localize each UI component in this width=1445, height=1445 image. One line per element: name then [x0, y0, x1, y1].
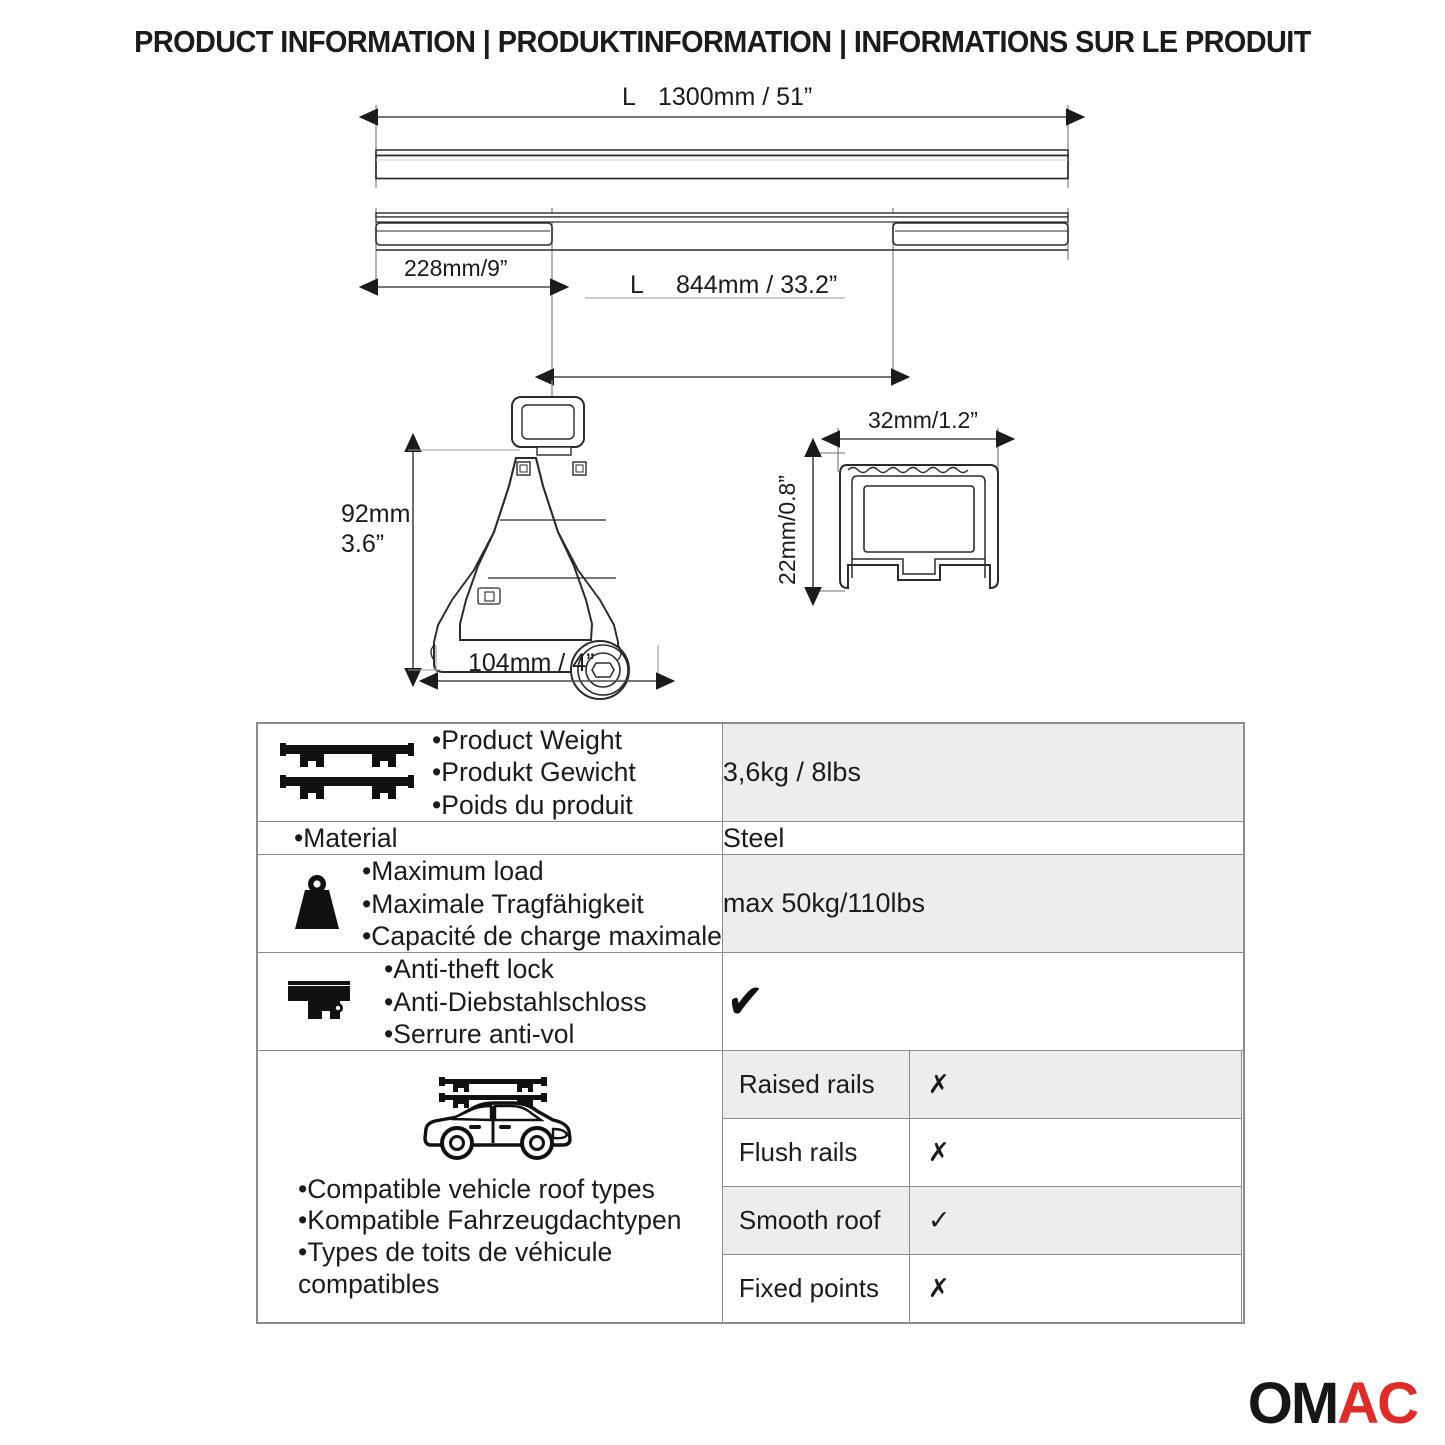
weight-label-en: •Product Weight: [432, 724, 636, 756]
dim-profile-height: 22mm/0.8”: [774, 475, 800, 585]
dim-foot-width: 104mm / 4”: [468, 649, 594, 677]
roof-type-row: Fixed points ✗: [722, 1255, 1241, 1323]
table-row: •Material Steel: [257, 821, 1244, 854]
dim-bar-length: 1300mm / 51”: [658, 83, 812, 111]
dim-foot-offset: 228mm/9”: [404, 255, 508, 281]
lock-labels: •Anti-theft lock •Anti-Diebstahlschloss …: [384, 953, 647, 1050]
roof-type-support: ✗: [909, 1255, 1241, 1323]
logo-text-ac: AC: [1337, 1375, 1417, 1433]
lock-value-cell: ✔: [722, 953, 1244, 1051]
dim-profile-width: 32mm/1.2”: [868, 407, 978, 433]
compatibility-labels: •Compatible vehicle roof types •Kompatib…: [258, 1174, 681, 1301]
roof-types-host: Raised rails ✗ Flush rails ✗ Smooth roof: [722, 1051, 1244, 1324]
weight-label-cell: •Product Weight •Produkt Gewicht •Poids …: [257, 723, 722, 821]
material-value: Steel: [722, 821, 1244, 854]
dim-foot-height-2: 3.6”: [341, 530, 384, 558]
compat-label-en: •Compatible vehicle roof types: [298, 1174, 681, 1206]
roof-type-name: Flush rails: [722, 1119, 909, 1187]
dim-span-length: 844mm / 33.2”: [676, 271, 837, 299]
cross-icon: ✗: [928, 1069, 950, 1099]
check-icon: ✓: [928, 1205, 951, 1235]
weight-labels: •Product Weight •Produkt Gewicht •Poids …: [432, 724, 636, 821]
material-label-cell: •Material: [257, 821, 722, 854]
lock-label-en: •Anti-theft lock: [384, 953, 647, 985]
technical-drawing: L 1300mm / 51” 228mm/9” L 844mm / 33.2” …: [0, 80, 1445, 710]
weight-label-de: •Produkt Gewicht: [432, 756, 636, 788]
roof-type-support: ✗: [909, 1051, 1241, 1119]
roof-rack-bars-icon: [280, 741, 414, 803]
dim-bar-length-prefix: L: [622, 83, 636, 111]
maxload-value: max 50kg/110lbs: [722, 855, 1244, 953]
roof-type-row: Raised rails ✗: [722, 1051, 1241, 1119]
maxload-label-fr: •Capacité de charge maximale: [362, 920, 722, 952]
lock-checkmark: ✔: [725, 974, 765, 1030]
logo-text-om: OM: [1248, 1375, 1337, 1433]
compat-label-de: •Kompatible Fahrzeugdachtypen: [298, 1205, 681, 1237]
roof-type-row: Flush rails ✗: [722, 1119, 1241, 1187]
roof-type-support: ✓: [909, 1187, 1241, 1255]
roof-types-table: Raised rails ✗ Flush rails ✗ Smooth roof: [722, 1050, 1242, 1323]
weight-label-fr: •Poids du produit: [432, 789, 636, 821]
weight-value: 3,6kg / 8lbs: [722, 723, 1244, 821]
cross-icon: ✗: [928, 1273, 950, 1303]
roof-type-name: Fixed points: [722, 1255, 909, 1323]
table-row: •Compatible vehicle roof types •Kompatib…: [257, 1051, 1244, 1324]
material-label-en: •Material: [294, 822, 398, 854]
roof-type-name: Smooth roof: [722, 1187, 909, 1255]
table-row: •Maximum load •Maximale Tragfähigkeit •C…: [257, 855, 1244, 953]
maxload-labels: •Maximum load •Maximale Tragfähigkeit •C…: [362, 855, 722, 952]
lock-label-cell: •Anti-theft lock •Anti-Diebstahlschloss …: [257, 953, 722, 1051]
dim-foot-height-1: 92mm: [341, 500, 410, 528]
maxload-label-en: •Maximum load: [362, 855, 722, 887]
weight-icon: [286, 873, 348, 935]
compatibility-label-cell: •Compatible vehicle roof types •Kompatib…: [257, 1051, 722, 1324]
compat-label-fr: •Types de toits de véhicule: [298, 1237, 681, 1269]
dim-span-prefix: L: [630, 271, 644, 299]
lock-label-fr: •Serrure anti-vol: [384, 1018, 647, 1050]
page-title: PRODUCT INFORMATION | PRODUKTINFORMATION…: [51, 24, 1395, 60]
lock-icon: [286, 978, 356, 1026]
specification-table: •Product Weight •Produkt Gewicht •Poids …: [256, 722, 1245, 1324]
material-labels: •Material: [258, 822, 398, 854]
maxload-label-cell: •Maximum load •Maximale Tragfähigkeit •C…: [257, 855, 722, 953]
lock-label-de: •Anti-Diebstahlschloss: [384, 986, 647, 1018]
compat-label-fr-cont: compatibles: [298, 1269, 681, 1301]
table-row: •Product Weight •Produkt Gewicht •Poids …: [257, 723, 1244, 821]
maxload-label-de: •Maximale Tragfähigkeit: [362, 888, 722, 920]
roof-type-support: ✗: [909, 1119, 1241, 1187]
roof-type-name: Raised rails: [722, 1051, 909, 1119]
table-row: •Anti-theft lock •Anti-Diebstahlschloss …: [257, 953, 1244, 1051]
cross-icon: ✗: [928, 1137, 950, 1167]
omac-logo: OM AC: [1248, 1375, 1417, 1433]
roof-type-row: Smooth roof ✓: [722, 1187, 1241, 1255]
car-with-roof-rack-icon: [417, 1073, 577, 1168]
